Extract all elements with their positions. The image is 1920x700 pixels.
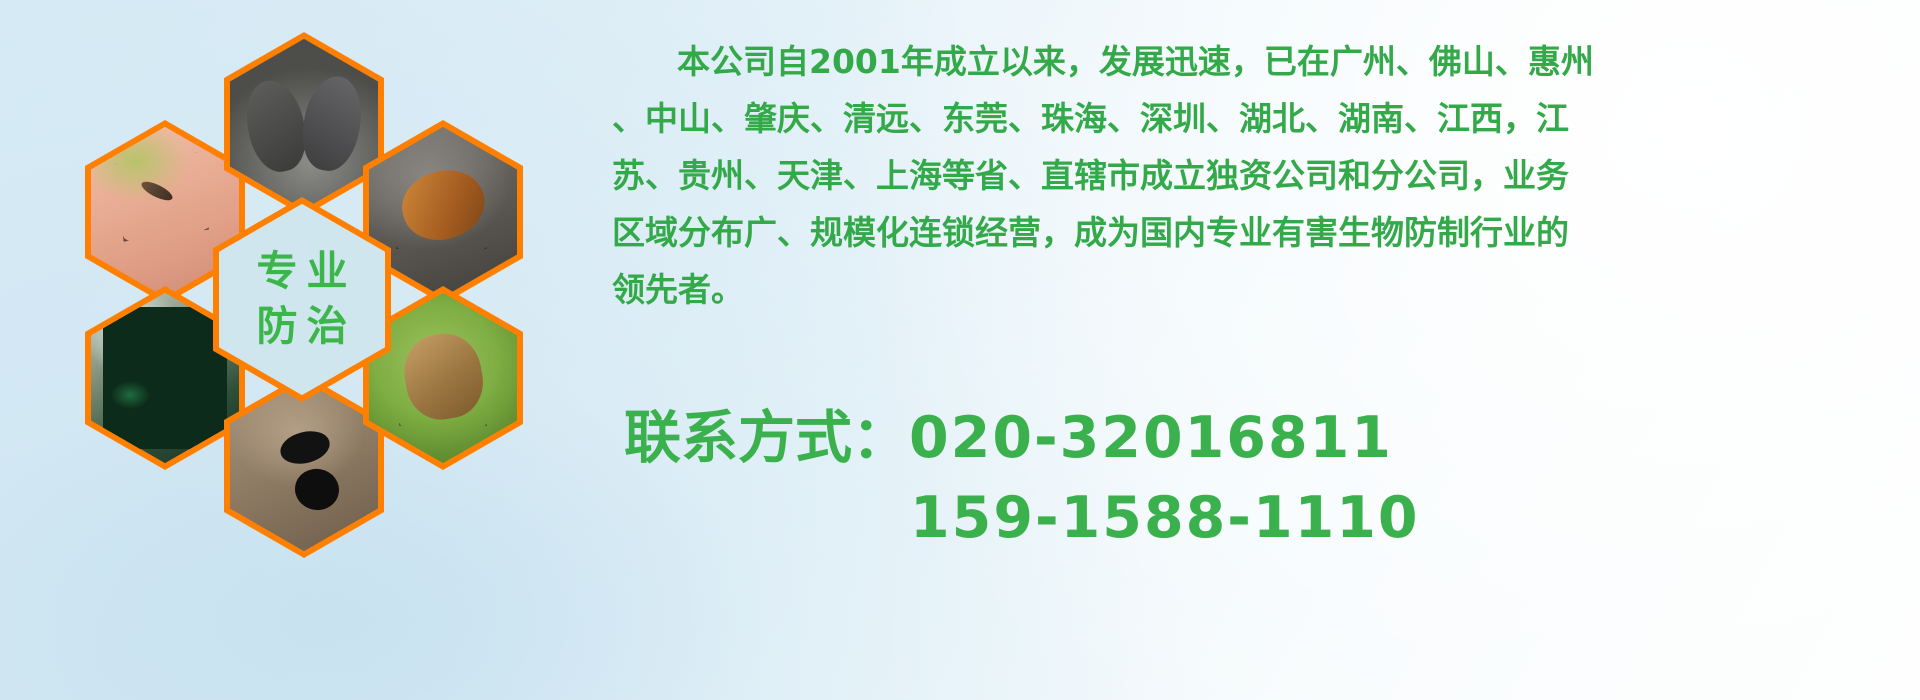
intro-line-2: 、中山、肇庆、清远、东莞、珠海、深圳、湖北、湖南、江西，江 [612, 90, 1912, 147]
intro-line-3: 苏、贵州、天津、上海等省、直辖市成立独资公司和分公司，业务 [612, 147, 1912, 204]
company-intro-paragraph: 本公司自2001年成立以来，发展迅速，已在广州、佛山、惠州 、中山、肇庆、清远、… [612, 33, 1912, 318]
contact-secondary-line: 159-1588-1110 [624, 478, 1920, 558]
logo-text-line1: 专业 [248, 248, 357, 295]
logo-text-line2: 防治 [248, 303, 357, 350]
hexagon-photo-cluster: 专业 防治 [85, 10, 605, 570]
stinkbug-icon [369, 293, 517, 463]
intro-line-4: 区域分布广、规模化连锁经营，成为国内专业有害生物防制行业的 [612, 204, 1912, 261]
phone-secondary[interactable]: 159-1588-1110 [910, 485, 1420, 551]
rats-photo [224, 32, 384, 216]
intro-line-1: 本公司自2001年成立以来，发展迅速，已在广州、佛山、惠州 [612, 33, 1912, 90]
contact-block: 联系方式：020-32016811 159-1588-1110 [624, 398, 1920, 558]
content-column: 本公司自2001年成立以来，发展迅速，已在广州、佛山、惠州 、中山、肇庆、清远、… [612, 0, 1920, 700]
ant-photo [224, 374, 384, 558]
rat-icon [230, 39, 378, 209]
phone-primary[interactable]: 020-32016811 [909, 405, 1393, 471]
promo-banner: 专业 防治 本公司自2001年成立以来，发展迅速，已在广州、佛山、惠州 、中山、… [0, 0, 1920, 700]
ant-icon [230, 381, 378, 551]
intro-line-5: 领先者。 [612, 261, 1912, 318]
contact-label: 联系方式： [624, 405, 909, 471]
contact-primary-line: 联系方式：020-32016811 [624, 398, 1920, 478]
cockroach-icon [369, 127, 517, 297]
